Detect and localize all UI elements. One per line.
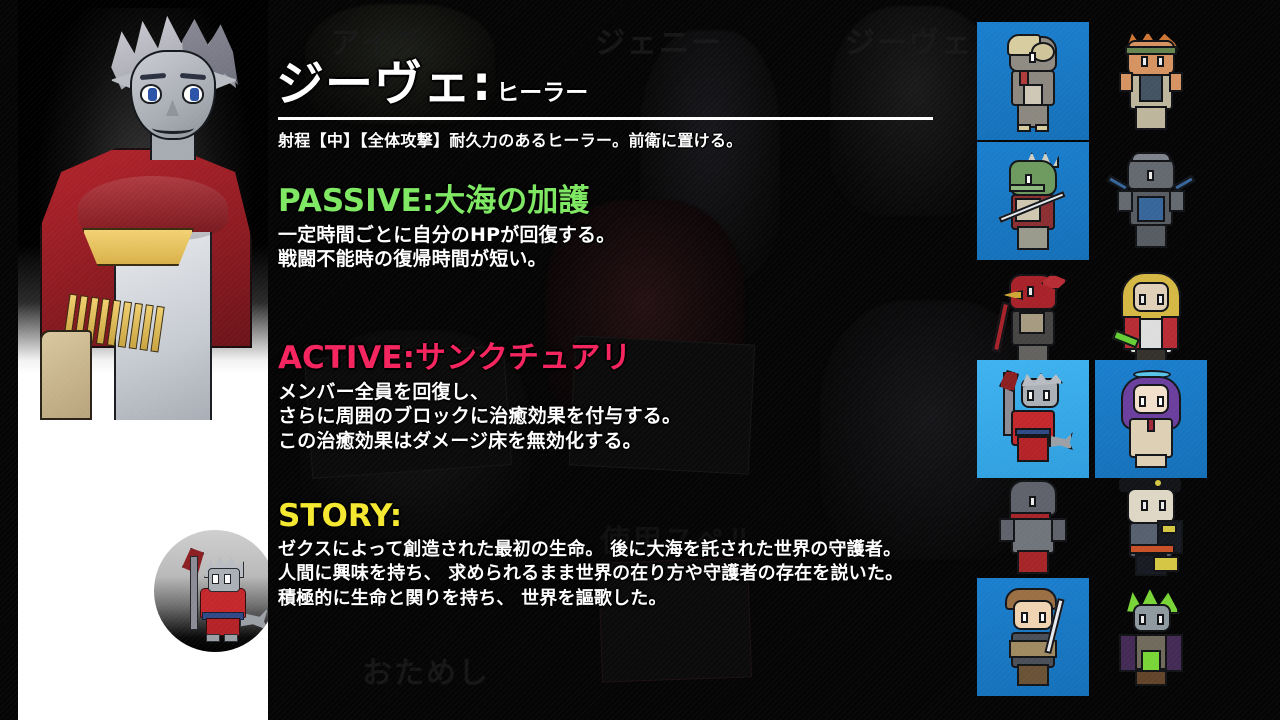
staff-icon xyxy=(190,556,198,630)
passive-label: PASSIVE: xyxy=(278,183,434,219)
active-description: メンバー全員を回復し、 さらに周囲のブロックに治癒効果を付与する。 この治癒効果… xyxy=(278,380,978,454)
roster-cell-hooded-scout[interactable] xyxy=(977,22,1089,140)
roster-cell-helm-knight[interactable] xyxy=(1095,142,1207,260)
passive-heading: PASSIVE:大海の加護 xyxy=(278,183,978,220)
character-title: ジーヴェ: ヒーラー xyxy=(276,60,588,108)
story-heading: STORY: xyxy=(278,498,978,535)
story-label: STORY: xyxy=(278,498,402,534)
story-description: ゼクスによって創造された最初の生命。 後に大海を託された世界の守護者。 人間に興… xyxy=(278,538,978,611)
avatar[interactable] xyxy=(154,530,268,652)
story-line-2: 人間に興味を持ち、 求められるまま世界の在り方や守護者の存在を説いた。 xyxy=(278,562,978,586)
gold-collar xyxy=(82,228,194,266)
roster-cell-red-knight[interactable] xyxy=(977,468,1089,586)
sprite-boot-right xyxy=(224,634,238,642)
character-subtitle: 射程【中】【全体攻撃】耐久力のあるヒーラー。前衛に置ける。 xyxy=(278,127,743,151)
arm xyxy=(40,330,92,420)
passive-skill-name: 大海の加護 xyxy=(434,183,589,219)
story-line-3: 積極的に生命と関りを持ち、 世界を謳歌した。 xyxy=(278,587,978,611)
portrait-panel xyxy=(18,0,268,720)
active-skill-name: サンクチュアリ xyxy=(415,340,631,376)
passive-line-1: 一定時間ごとに自分のHPが回復する。 xyxy=(278,223,978,248)
info-column: ジーヴェ: ヒーラー 射程【中】【全体攻撃】耐久力のあるヒーラー。前衛に置ける。… xyxy=(276,0,976,720)
active-line-3: この治癒効果はダメージ床を無効化する。 xyxy=(278,429,978,454)
sprite-eye-left xyxy=(212,574,219,584)
title-divider xyxy=(278,117,933,120)
character-role: ヒーラー xyxy=(496,82,588,108)
roster-grid xyxy=(968,0,1280,720)
roster-cell-purple-angel[interactable] xyxy=(1095,360,1207,478)
roster-cell-green-imp[interactable] xyxy=(1095,578,1207,696)
pupil-right xyxy=(190,88,199,101)
section-active: ACTIVE:サンクチュアリ メンバー全員を回復し、 さらに周囲のブロックに治癒… xyxy=(278,340,978,454)
active-heading: ACTIVE:サンクチュアリ xyxy=(278,340,978,377)
roster-cell-bear-captain[interactable] xyxy=(1095,468,1207,586)
sprite-eye-right xyxy=(224,574,231,584)
section-story: STORY: ゼクスによって創造された最初の生命。 後に大海を託された世界の守護… xyxy=(278,498,978,611)
active-line-2: さらに周囲のブロックに治癒効果を付与する。 xyxy=(278,404,978,429)
pupil-left xyxy=(148,88,157,101)
passive-description: 一定時間ごとに自分のHPが回復する。 戦闘不能時の復帰時間が短い。 xyxy=(278,223,978,272)
active-label: ACTIVE: xyxy=(278,340,415,376)
character-name: ジーヴェ: xyxy=(276,60,492,108)
story-line-1: ゼクスによって創造された最初の生命。 後に大海を託された世界の守護者。 xyxy=(278,538,978,562)
character-info-screen: アイズ ジェニー ジーヴェ 使用スペル おためし xyxy=(0,0,1280,720)
passive-line-2: 戦闘不能時の復帰時間が短い。 xyxy=(278,247,978,272)
active-line-1: メンバー全員を回復し、 xyxy=(278,380,978,405)
roster-cell-zive-healer[interactable] xyxy=(977,360,1089,478)
sprite-boot-left xyxy=(206,634,220,642)
roster-cell-bandana-brawler[interactable] xyxy=(1095,22,1207,140)
roster-cell-hero-swordsman[interactable] xyxy=(977,578,1089,696)
character-portrait xyxy=(18,0,268,420)
mouth xyxy=(152,122,194,134)
section-passive: PASSIVE:大海の加護 一定時間ごとに自分のHPが回復する。 戦闘不能時の復… xyxy=(278,183,978,272)
roster-cell-lizard-swordsman[interactable] xyxy=(977,142,1089,260)
